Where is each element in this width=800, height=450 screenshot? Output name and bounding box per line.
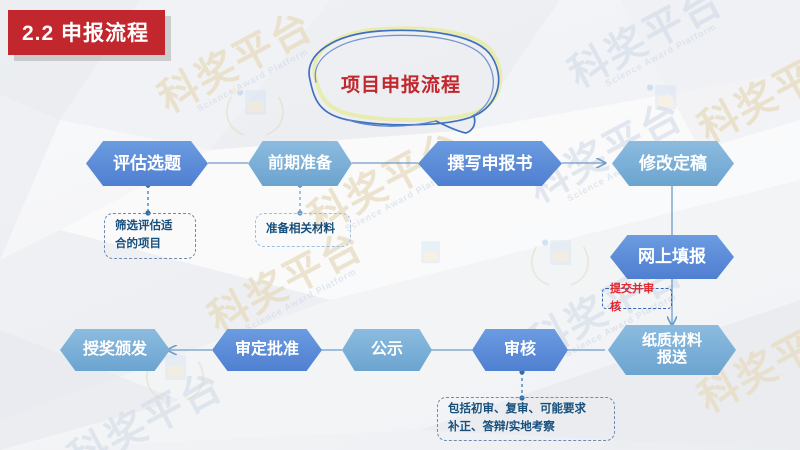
callout-line-2: 补正、答辩/实地考察: [448, 419, 555, 437]
flow-node-label: 前期准备: [268, 155, 332, 173]
section-badge: 2.2 申报流程: [8, 10, 165, 55]
callout-submit-review: 提交并审核: [602, 288, 672, 309]
flow-node-preparation[interactable]: 前期准备: [248, 141, 352, 186]
flow-node-label: 公示: [371, 341, 403, 359]
callout-line-1: 包括初审、复审、可能要求: [448, 401, 586, 419]
bubble-title: 项目申报流程: [276, 70, 526, 97]
flow-node-approval[interactable]: 审定批准: [212, 329, 322, 371]
callout-prepare-material: 准备相关材料: [255, 213, 351, 247]
flow-node-label: 评估选题: [113, 154, 181, 173]
flow-node-paper-submission[interactable]: 纸质材料 报送: [608, 325, 736, 375]
callout-line-1: 筛选评估适: [115, 218, 173, 236]
flow-node-online-filing[interactable]: 网上填报: [610, 235, 734, 279]
flow-node-review[interactable]: 审核: [472, 329, 568, 371]
flow-node-label: 撰写申报书: [448, 154, 533, 173]
flow-node-label: 网上填报: [638, 247, 706, 266]
flow-node-write-application[interactable]: 撰写申报书: [418, 141, 562, 186]
callout-line-2: 合的项目: [115, 236, 161, 254]
flow-node-publicity[interactable]: 公示: [342, 329, 432, 371]
flow-node-evaluate-topic[interactable]: 评估选题: [86, 141, 208, 186]
flow-node-label: 审定批准: [235, 341, 299, 359]
flow-node-award-issuance[interactable]: 授奖颁发: [60, 329, 170, 371]
flow-node-label-line1: 纸质材料: [642, 333, 702, 350]
callout-line-1: 提交并审核: [610, 281, 664, 315]
flow-node-label: 修改定稿: [639, 154, 707, 173]
callout-screen-projects: 筛选评估适 合的项目: [104, 213, 196, 259]
flow-node-revise-finalize[interactable]: 修改定稿: [612, 141, 734, 186]
flow-node-label: 审核: [504, 341, 536, 359]
speech-bubble: 项目申报流程: [276, 26, 526, 136]
callout-line-1: 准备相关材料: [266, 221, 335, 239]
callout-review-detail: 包括初审、复审、可能要求 补正、答辩/实地考察: [437, 397, 615, 441]
flow-node-label: 授奖颁发: [83, 341, 147, 359]
slide-canvas: 科奖平台 Science Award Platform 科奖平台 Science…: [0, 0, 800, 450]
flow-node-label-line2: 报送: [657, 350, 687, 367]
